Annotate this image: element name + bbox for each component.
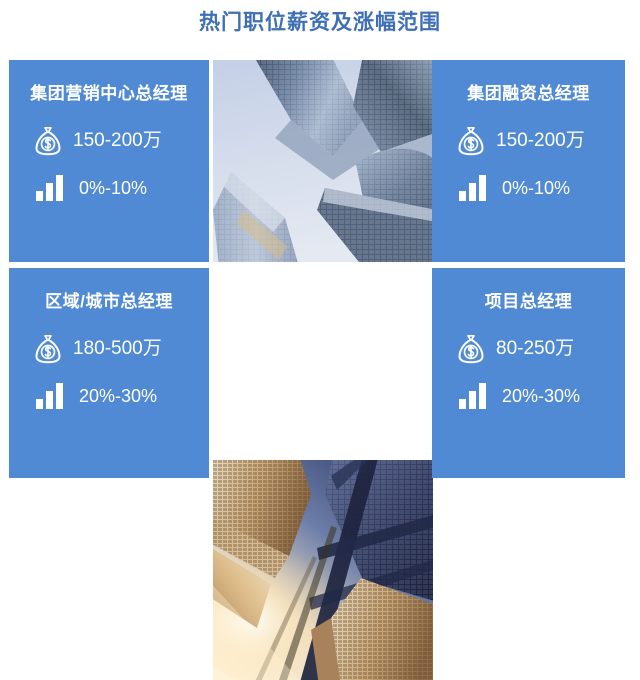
job-title: 集团营销中心总经理: [9, 82, 209, 106]
growth-value: 0%-10%: [79, 177, 147, 199]
skyscrapers-daylight-photo: [213, 60, 433, 262]
infographic-grid: 集团营销中心总经理 150-200万: [9, 60, 625, 478]
bar-chart-icon: [458, 382, 488, 410]
job-panel-bottom-left[interactable]: 区域/城市总经理 180-500万 2: [9, 268, 209, 478]
salary-value: 150-200万: [496, 130, 585, 152]
growth-value: 20%-30%: [79, 385, 157, 407]
salary-row: 150-200万: [432, 124, 625, 158]
salary-row: 80-250万: [432, 332, 625, 366]
money-bag-icon: [454, 332, 488, 366]
money-bag-icon: [31, 332, 65, 366]
job-panel-top-left[interactable]: 集团营销中心总经理 150-200万: [9, 60, 209, 262]
salary-value: 150-200万: [73, 130, 162, 152]
page-title: 热门职位薪资及涨幅范围: [0, 8, 640, 38]
job-panel-top-right[interactable]: 集团融资总经理 150-200万 0%: [432, 60, 625, 262]
salary-row: 150-200万: [9, 124, 209, 158]
growth-row: 0%-10%: [9, 174, 209, 202]
job-panel-bottom-right[interactable]: 项目总经理 80-250万 20%-3: [432, 268, 625, 478]
money-bag-icon: [31, 124, 65, 158]
salary-row: 180-500万: [9, 332, 209, 366]
salary-value: 180-500万: [73, 338, 162, 360]
salary-value: 80-250万: [496, 338, 574, 360]
bar-chart-icon: [35, 382, 65, 410]
bar-chart-icon: [35, 174, 65, 202]
growth-value: 0%-10%: [502, 177, 570, 199]
job-title: 项目总经理: [432, 290, 625, 314]
skyscrapers-sunset-photo: [213, 460, 433, 680]
growth-row: 0%-10%: [432, 174, 625, 202]
job-title: 集团融资总经理: [432, 82, 625, 106]
job-title: 区域/城市总经理: [9, 290, 209, 314]
growth-row: 20%-30%: [9, 382, 209, 410]
money-bag-icon: [454, 124, 488, 158]
growth-value: 20%-30%: [502, 385, 580, 407]
bar-chart-icon: [458, 174, 488, 202]
growth-row: 20%-30%: [432, 382, 625, 410]
